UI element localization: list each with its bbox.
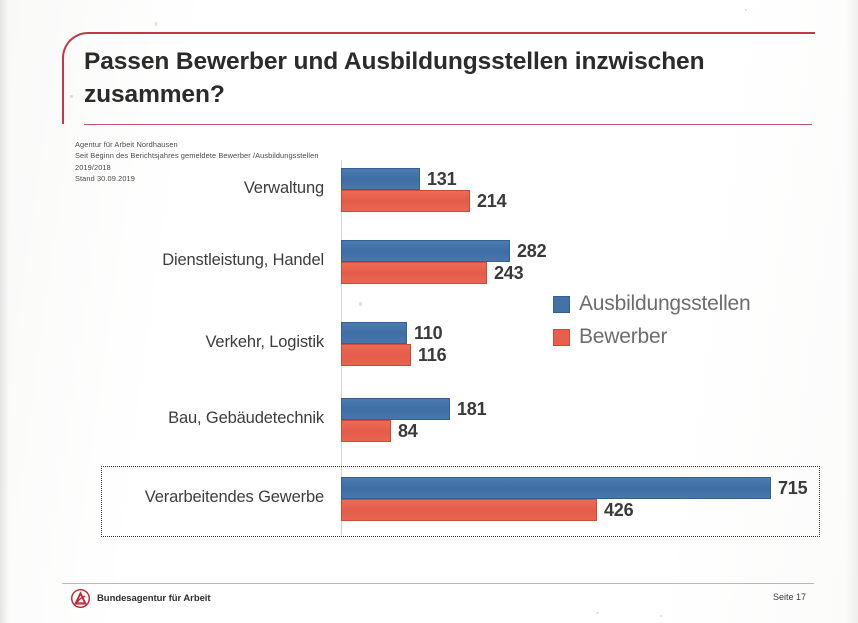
category-label: Verwaltung [244, 179, 324, 198]
bar-value-label: 214 [477, 191, 506, 212]
legend-swatch-red-icon [553, 329, 570, 346]
bar-bewerber [341, 420, 391, 442]
category-label: Bau, Gebäudetechnik [168, 409, 324, 428]
chart-legend: Ausbildungsstellen Bewerber [553, 292, 751, 358]
legend-label-ausbildungsstellen: Ausbildungsstellen [579, 292, 751, 316]
bar-value-label: 715 [778, 478, 807, 499]
footer-divider [62, 583, 814, 584]
slide-page: Passen Bewerber und Ausbildungsstellen i… [0, 0, 858, 623]
bar-ausbildungsstellen [341, 477, 771, 499]
legend-item-ausbildungsstellen: Ausbildungsstellen [553, 292, 751, 316]
bar-value-label: 110 [414, 323, 442, 344]
bar-ausbildungsstellen [341, 398, 450, 420]
category-label: Dienstleistung, Handel [162, 251, 324, 270]
bar-value-label: 116 [418, 345, 446, 366]
bar-chart: Verwaltung131214Dienstleistung, Handel28… [0, 0, 858, 623]
bar-ausbildungsstellen [341, 168, 420, 190]
bar-bewerber [341, 344, 411, 366]
bar-ausbildungsstellen [341, 240, 510, 262]
category-label: Verkehr, Logistik [205, 333, 324, 352]
footer: Bundesagentur für Arbeit Seite 17 [62, 589, 814, 615]
category-label: Verarbeitendes Gewerbe [145, 488, 324, 507]
bar-value-label: 131 [427, 169, 456, 190]
bar-bewerber [341, 190, 470, 212]
legend-label-bewerber: Bewerber [579, 325, 667, 349]
bar-ausbildungsstellen [341, 322, 407, 344]
bar-value-label: 243 [494, 263, 523, 284]
bar-bewerber [341, 262, 487, 284]
legend-item-bewerber: Bewerber [553, 325, 751, 349]
bar-value-label: 84 [398, 421, 418, 442]
brand-label: Bundesagentur für Arbeit [97, 593, 211, 604]
legend-swatch-blue-icon [553, 296, 570, 313]
page-number: Seite 17 [773, 592, 806, 602]
brand: Bundesagentur für Arbeit [71, 589, 211, 608]
bar-value-label: 181 [457, 399, 486, 420]
bar-bewerber [341, 499, 597, 521]
bar-value-label: 282 [517, 241, 546, 262]
bar-value-label: 426 [604, 500, 633, 521]
bundesagentur-logo-icon [71, 589, 90, 608]
